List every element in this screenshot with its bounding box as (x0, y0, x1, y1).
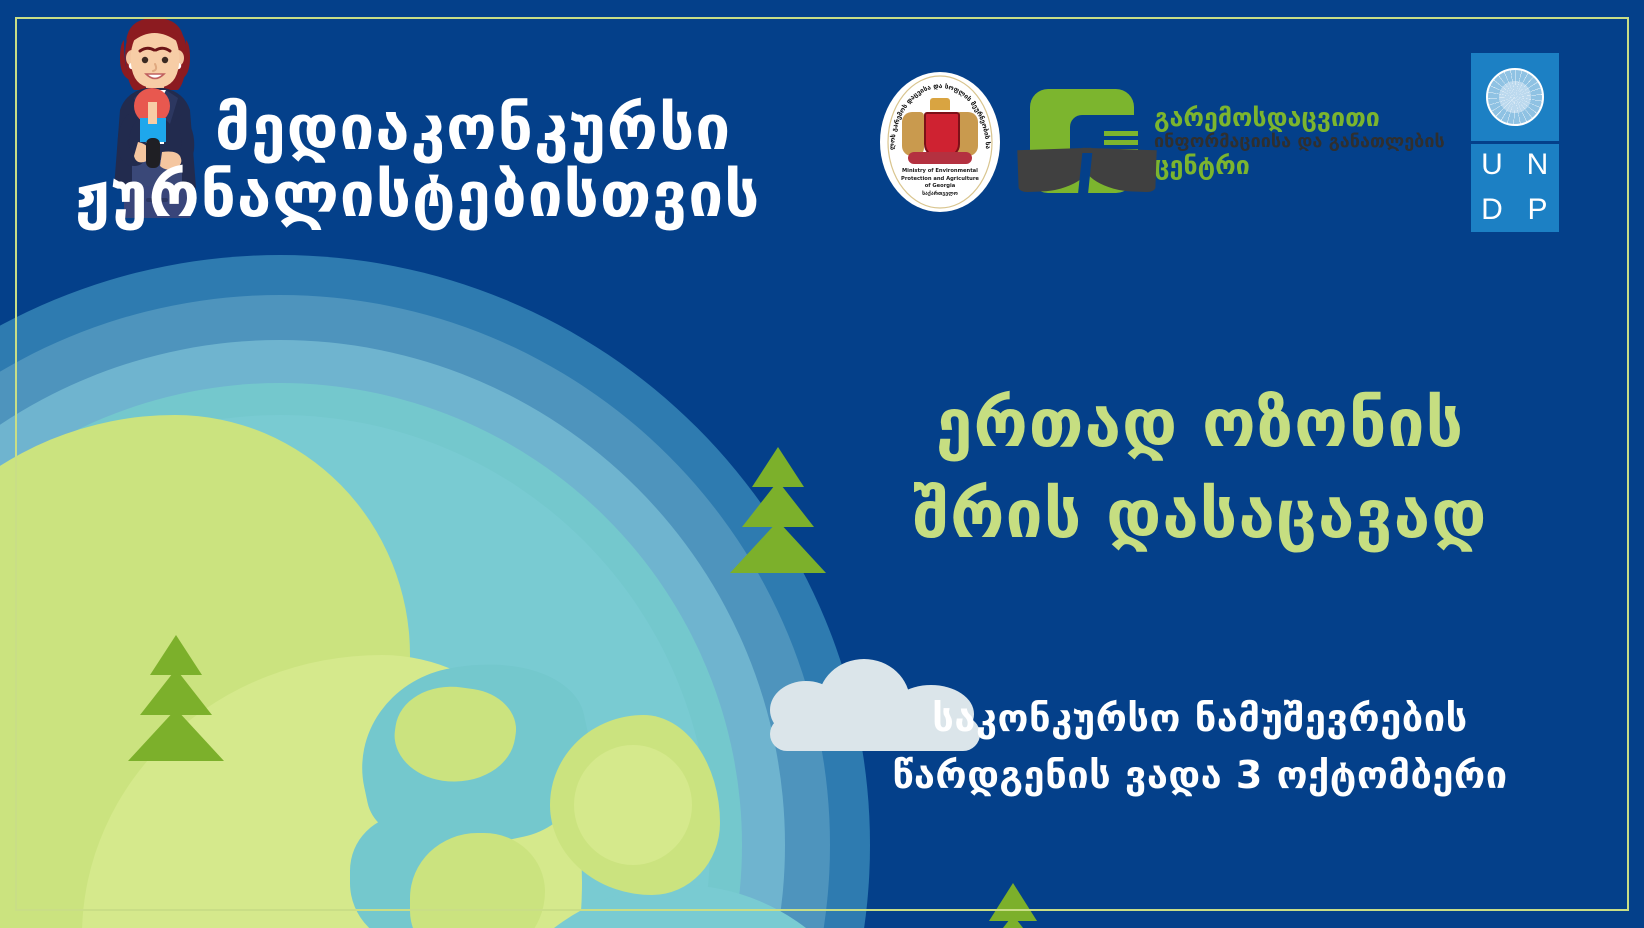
emblem-en-text: Ministry of Environmental Protection and… (880, 168, 1000, 198)
gec-mark-icon (1026, 87, 1144, 197)
subline-line-1: საკონკურსო ნამუშევრების (820, 690, 1580, 747)
headline-line-2: შრის დასაცავად (830, 469, 1570, 560)
tree-icon (730, 447, 826, 573)
gec-bar-2 (1104, 140, 1138, 145)
gec-line-3: ცენტრი (1154, 152, 1445, 180)
undp-logo: U N D P (1471, 53, 1559, 232)
undp-letter-p: P (1516, 189, 1559, 232)
ministry-emblem-icon: საქართველოს გარემოს დაცვისა და სოფლის მე… (880, 72, 1000, 212)
greenland-highlight (574, 745, 692, 865)
gec-logo: გარემოსდაცვითი ინფორმაციისა და განათლები… (1026, 87, 1445, 197)
headline-line-1: ერთად ოზონის (830, 378, 1570, 469)
emblem-en-line-1: Ministry of Environmental (880, 168, 1000, 176)
page-title: მედიაკონკურსი ჟურნალისტებისთვის (215, 95, 795, 229)
main-headline: ერთად ოზონის შრის დასაცავად (830, 378, 1570, 560)
title-line-2: ჟურნალისტებისთვის (75, 162, 795, 229)
emblem-en-line-2: Protection and Agriculture (880, 176, 1000, 184)
undp-letters: U N D P (1471, 144, 1559, 232)
gec-line-1: გარემოსდაცვითი (1154, 104, 1445, 132)
undp-letter-d: D (1471, 189, 1514, 232)
gec-bar-1 (1104, 131, 1138, 136)
emblem-en-line-3: of Georgia (880, 183, 1000, 191)
un-emblem-icon (1471, 53, 1559, 141)
tree-icon (128, 635, 224, 761)
gec-line-2: ინფორმაციისა და განათლების (1154, 132, 1445, 152)
undp-letter-n: N (1516, 144, 1559, 187)
emblem-banner (908, 152, 972, 164)
earth-globe-illustration (0, 255, 870, 928)
poster-canvas: მედიაკონკურსი ჟურნალისტებისთვის საქართვე… (0, 0, 1644, 928)
deadline-text: საკონკურსო ნამუშევრების წარდგენის ვადა 3… (820, 690, 1580, 804)
emblem-crown (930, 98, 950, 110)
emblem-lion-left (902, 112, 924, 156)
logo-row: საქართველოს გარემოს დაცვისა და სოფლის მე… (880, 62, 1559, 222)
title-line-1: მედიაკონკურსი (215, 91, 731, 164)
undp-letter-u: U (1471, 144, 1514, 187)
tree-icon (968, 883, 1058, 928)
emblem-en-line-4: საქართველო (880, 191, 1000, 199)
gec-wordmark: გარემოსდაცვითი ინფორმაციისა და განათლები… (1154, 104, 1445, 180)
un-globe-icon (1486, 68, 1544, 126)
subline-line-2: წარდგენის ვადა 3 ოქტომბერი (820, 747, 1580, 804)
